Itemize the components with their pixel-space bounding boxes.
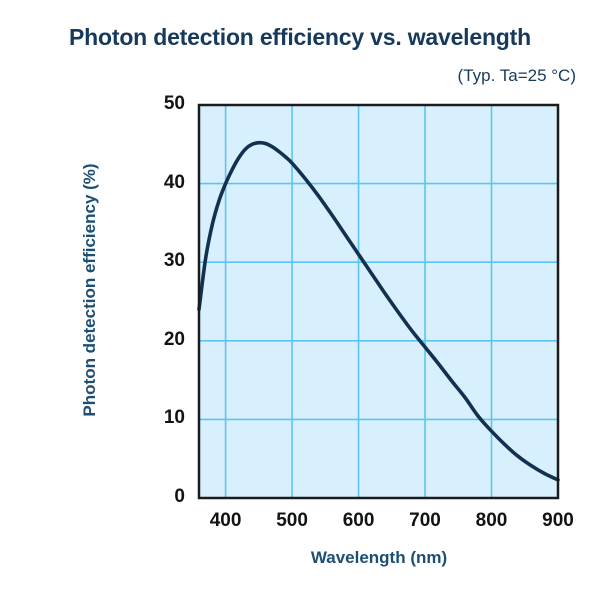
y-tick-label: 20: [139, 329, 185, 351]
chart-figure: Photon detection efficiency vs. waveleng…: [0, 0, 600, 600]
x-tick-label: 500: [262, 510, 322, 532]
y-tick-label: 30: [139, 250, 185, 272]
x-tick-label: 600: [329, 510, 389, 532]
x-tick-label: 700: [395, 510, 455, 532]
y-tick-label: 40: [139, 172, 185, 194]
y-tick-label: 0: [139, 486, 185, 508]
x-tick-label: 400: [196, 510, 256, 532]
x-tick-label: 800: [462, 510, 522, 532]
x-tick-label: 900: [528, 510, 588, 532]
y-tick-label: 50: [139, 93, 185, 115]
plot-background: [199, 105, 558, 498]
y-tick-label: 10: [139, 407, 185, 429]
